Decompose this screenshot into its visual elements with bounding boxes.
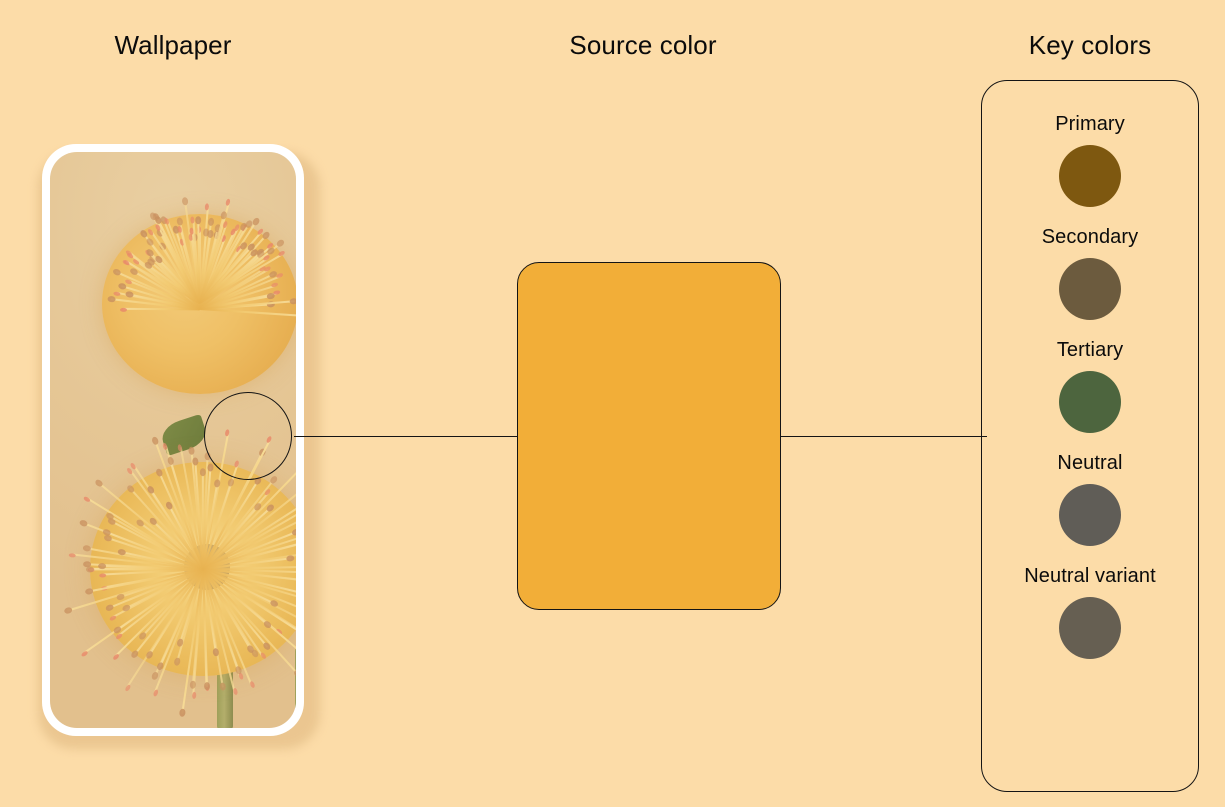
flower-stem-secondary (295, 647, 296, 717)
key-colors-panel: Primary Secondary Tertiary Neutral Neutr… (981, 80, 1199, 792)
color-sampler-circle[interactable] (204, 392, 292, 480)
key-color-primary[interactable]: Primary (1055, 113, 1125, 207)
key-color-label: Secondary (1042, 226, 1139, 249)
source-color-heading: Source color (569, 30, 716, 61)
key-color-label: Neutral (1057, 452, 1122, 475)
key-color-secondary[interactable]: Secondary (1042, 226, 1139, 320)
key-color-neutral-variant[interactable]: Neutral variant (1024, 565, 1156, 659)
wallpaper-heading: Wallpaper (115, 30, 232, 61)
connector-source-to-key-colors (781, 436, 987, 437)
key-color-swatch[interactable] (1059, 371, 1121, 433)
key-color-swatch[interactable] (1059, 258, 1121, 320)
key-color-swatch[interactable] (1059, 145, 1121, 207)
key-color-label: Primary (1055, 113, 1125, 136)
key-color-tertiary[interactable]: Tertiary (1057, 339, 1123, 433)
source-color-swatch[interactable] (517, 262, 781, 610)
key-color-swatch[interactable] (1059, 597, 1121, 659)
key-color-label: Tertiary (1057, 339, 1123, 362)
key-color-label: Neutral variant (1024, 565, 1156, 588)
key-colors-heading: Key colors (1029, 30, 1151, 61)
key-color-swatch[interactable] (1059, 484, 1121, 546)
connector-wallpaper-to-source (294, 436, 519, 437)
color-extraction-diagram: Wallpaper Source color Key colors Primar… (0, 0, 1225, 807)
key-color-neutral[interactable]: Neutral (1057, 452, 1122, 546)
